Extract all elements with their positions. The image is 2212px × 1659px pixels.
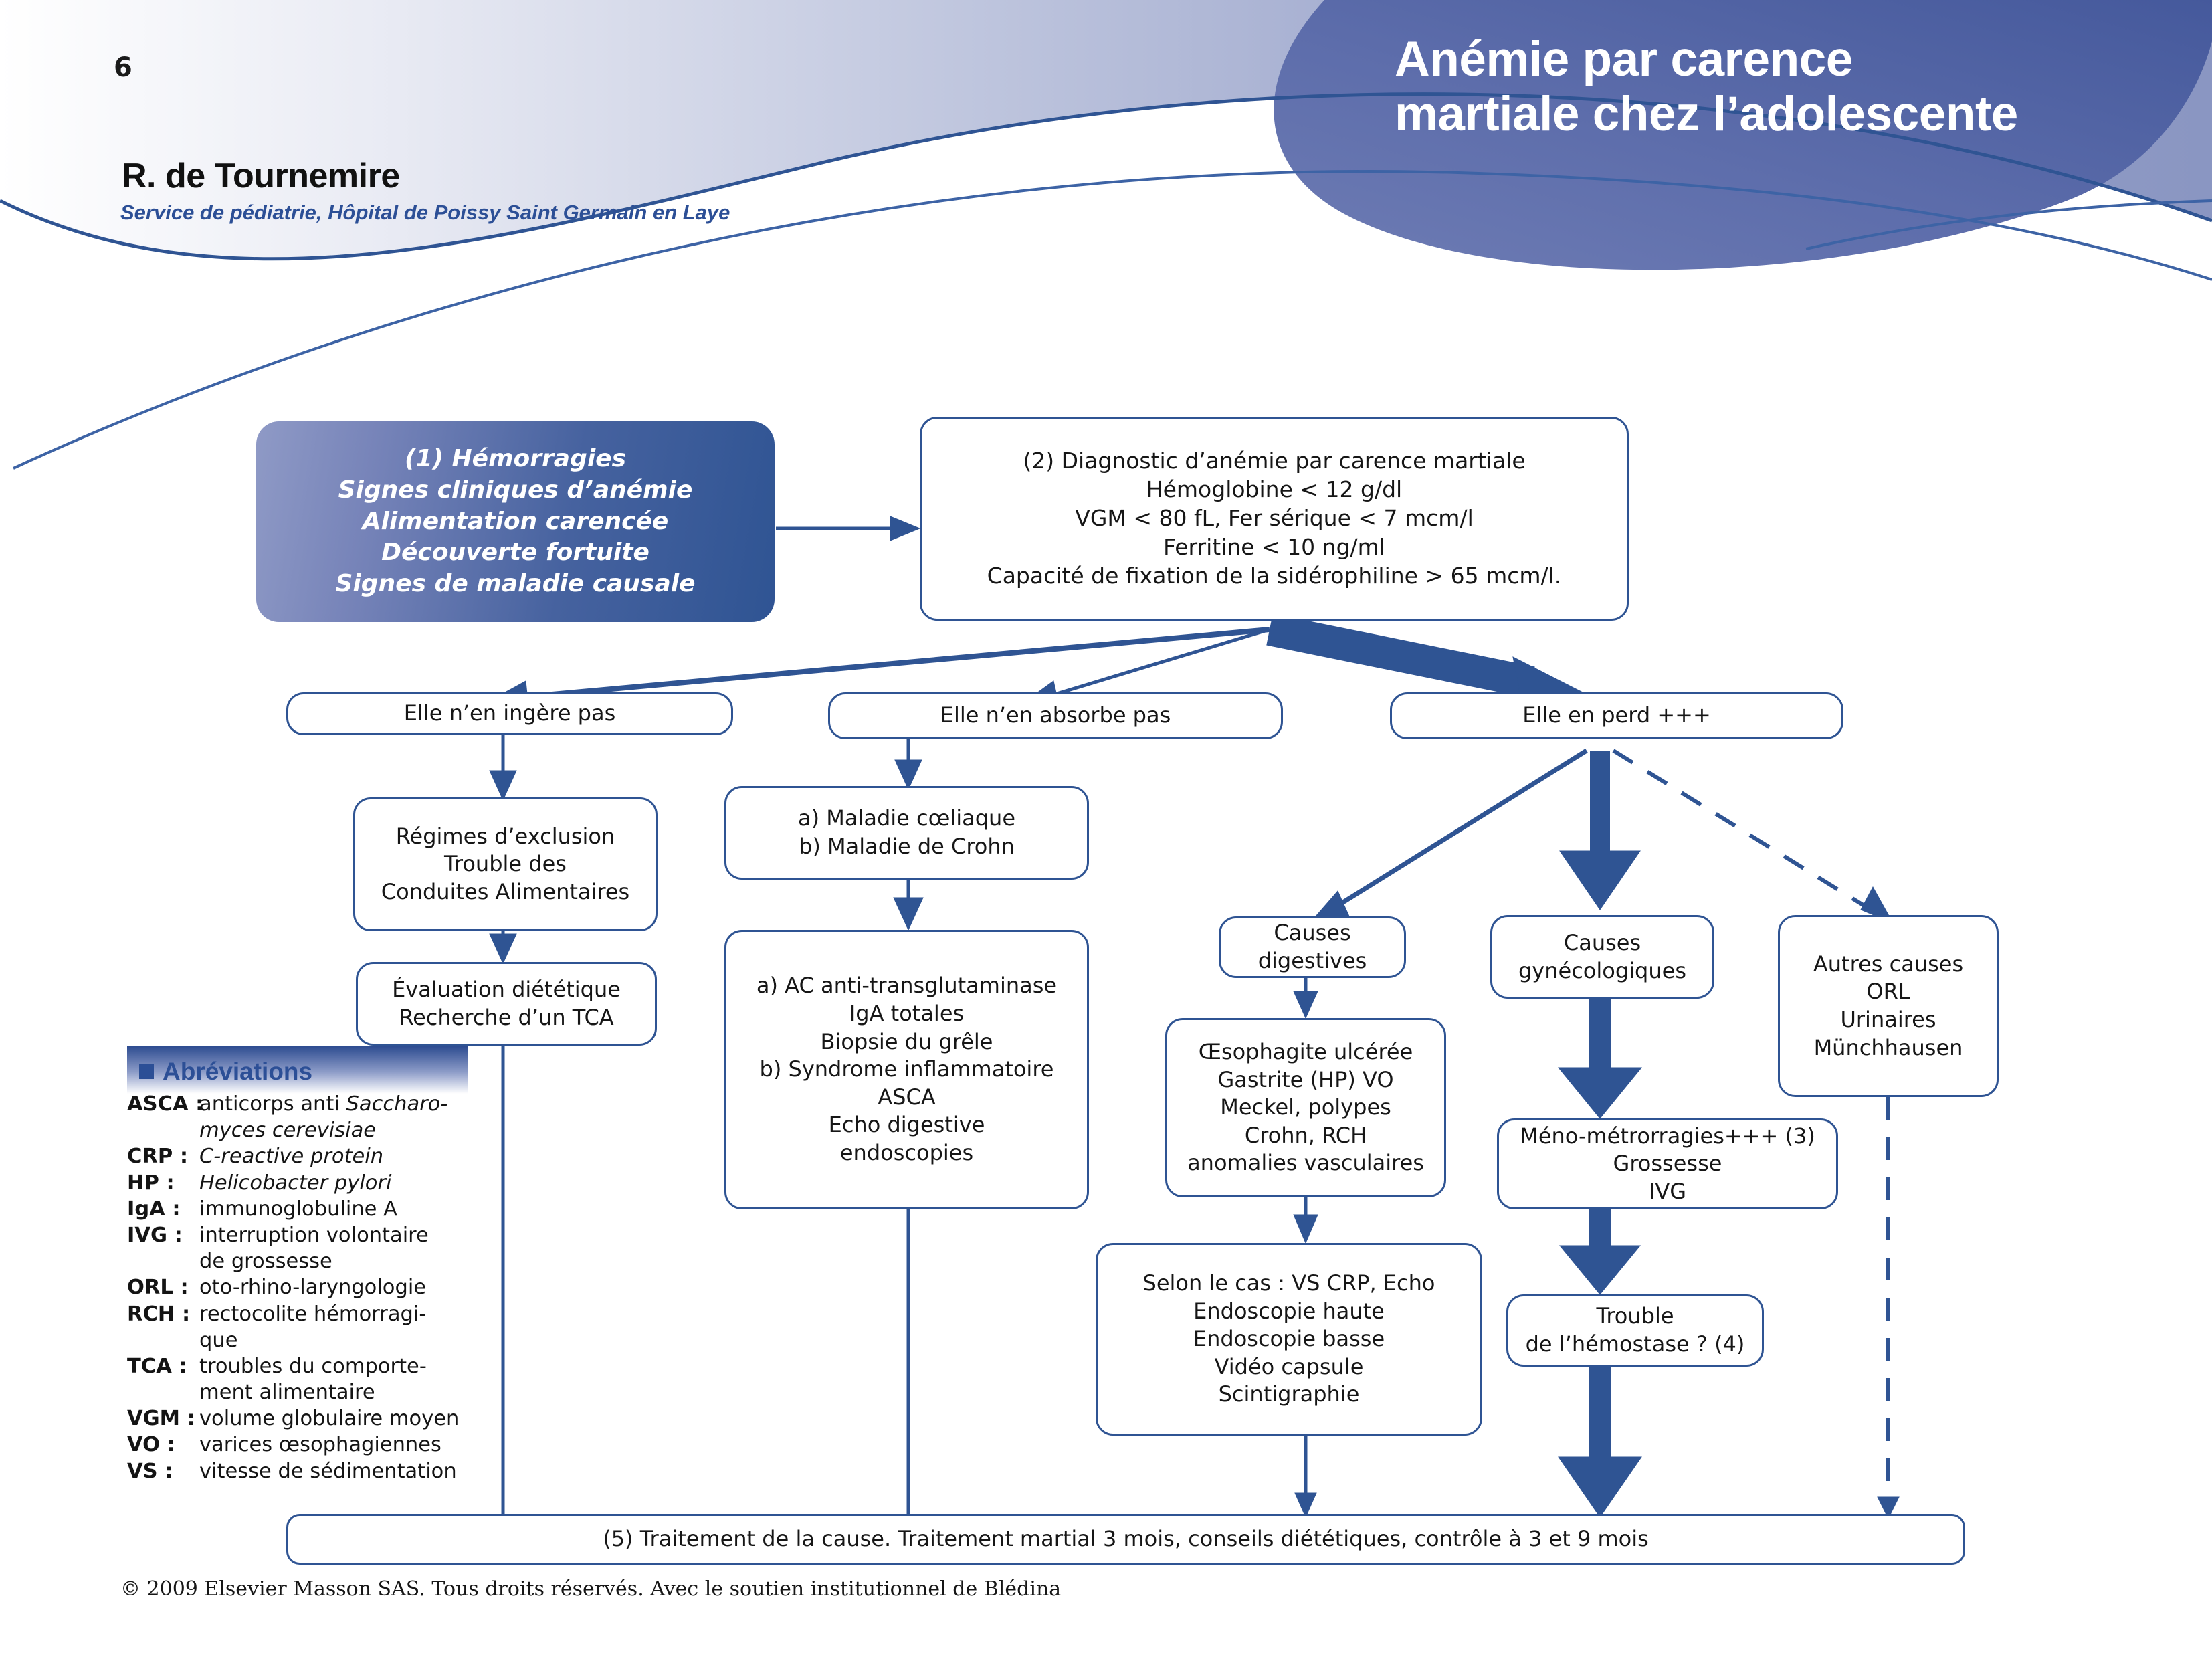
abbreviation-value: interruption volontaire [199,1222,468,1248]
slide-canvas: 6 Anémie par carence martiale chez l’ado… [0,0,2212,1659]
node-text-line: Gastrite (HP) VO [1175,1066,1436,1094]
node-text-line: Découverte fortuite [264,537,767,569]
node-text-line: Selon le cas : VS CRP, Echo [1106,1270,1472,1298]
node-hero-lines: (1) HémorragiesSignes cliniques d’anémie… [264,444,767,600]
abbreviation-key: TCA : [127,1353,199,1379]
node-explorations-digestives[interactable]: Selon le cas : VS CRP, EchoEndoscopie ha… [1096,1243,1482,1436]
node-branch-ingere[interactable]: Elle n’en ingère pas [286,692,733,735]
node-etiologies-digestives[interactable]: Œsophagite ulcéréeGastrite (HP) VOMeckel… [1165,1018,1446,1197]
abbreviation-row: CRP :C-reactive protein [127,1143,468,1169]
node-examens-malabsorption[interactable]: a) AC anti-transglutaminaseIgA totalesBi… [724,930,1089,1209]
abbreviation-value: C-reactive protein [199,1143,468,1169]
copyright-notice: © 2009 Elsevier Masson SAS. Tous droits … [120,1577,1061,1601]
node-text-line: Causes [1500,929,1704,957]
node-autres-causes-lines: Autres causesORLUrinairesMünchhausen [1788,951,1989,1062]
node-text-line: anomalies vasculaires [1175,1149,1436,1177]
node-text-line: a) AC anti-transglutaminase [734,972,1079,1000]
node-text-line: Münchhausen [1788,1034,1989,1062]
abbreviations-list: ASCA :anticorps anti Saccharo-myces cere… [127,1091,468,1484]
abbreviation-key: IVG : [127,1222,199,1248]
abbreviation-value-continued: de grossesse [199,1248,468,1274]
abbreviation-key: HP : [127,1170,199,1196]
abbreviation-value: vitesse de sédimentation [199,1458,468,1484]
node-etiologies-digestives-lines: Œsophagite ulcéréeGastrite (HP) VOMeckel… [1175,1038,1436,1177]
node-text-line: Elle en perd +++ [1400,702,1833,730]
node-text-line: Crohn, RCH [1175,1122,1436,1150]
node-text-line: (2) Diagnostic d’anémie par carence mart… [930,447,1619,476]
square-bullet-icon [139,1064,154,1079]
node-text-line: Meckel, polypes [1175,1094,1436,1122]
abbreviation-row: ORL :oto-rhino-laryngologie [127,1274,468,1300]
node-text-line: Scintigraphie [1106,1381,1472,1409]
node-hero-presentation[interactable]: (1) HémorragiesSignes cliniques d’anémie… [256,421,775,622]
abbreviations-heading: Abréviations [127,1046,468,1086]
abbreviation-key: CRP : [127,1143,199,1169]
abbreviation-row: ASCA :anticorps anti Saccharo- [127,1091,468,1117]
abbreviation-value-continued: que [199,1327,468,1353]
node-text-line: Trouble des [363,850,647,878]
node-text-line: Capacité de fixation de la sidérophiline… [930,562,1619,591]
node-text-line: Elle n’en ingère pas [296,700,723,728]
node-text-line: Vidéo capsule [1106,1353,1472,1381]
node-text-line: digestives [1229,947,1396,975]
node-maladies-lines: a) Maladie cœliaqueb) Maladie de Crohn [734,805,1079,860]
node-causes-digestives-lines: Causesdigestives [1229,919,1396,975]
node-trouble-hemostase[interactable]: Troublede l’hémostase ? (4) [1506,1294,1764,1367]
node-traitement[interactable]: (5) Traitement de la cause. Traitement m… [286,1514,1965,1565]
node-text-line: Biopsie du grêle [734,1028,1079,1056]
node-causes-gyneco-lines: Causesgynécologiques [1500,929,1704,985]
node-text-line: Endoscopie basse [1106,1325,1472,1353]
node-text-line: Signes de maladie causale [264,569,767,600]
abbreviation-key: IgA : [127,1196,199,1222]
abbreviation-row: VS :vitesse de sédimentation [127,1458,468,1484]
node-text-line: Grossesse [1507,1150,1828,1178]
node-text-line: ORL [1788,978,1989,1006]
abbreviation-value: varices œsophagiennes [199,1432,468,1458]
abbreviation-key: VS : [127,1458,199,1484]
abbreviation-row: HP :Helicobacter pylori [127,1170,468,1196]
node-text-line: Ferritine < 10 ng/ml [930,533,1619,562]
node-text-line: Alimentation carencée [264,506,767,538]
node-text-line: de l’hémostase ? (4) [1516,1331,1754,1359]
node-causes-digestives[interactable]: Causesdigestives [1219,916,1406,978]
node-hemostase-lines: Troublede l’hémostase ? (4) [1516,1302,1754,1358]
node-text-line: IgA totales [734,1000,1079,1028]
node-regimes-lines: Régimes d’exclusionTrouble desConduites … [363,823,647,906]
abbreviation-row: IgA :immunoglobuline A [127,1196,468,1222]
node-autres-causes[interactable]: Autres causesORLUrinairesMünchhausen [1778,915,1999,1097]
node-text-line: endoscopies [734,1139,1079,1167]
node-evaluation-lines: Évaluation diététiqueRecherche d’un TCA [366,976,647,1032]
node-text-line: (5) Traitement de la cause. Traitement m… [296,1525,1955,1553]
abbreviation-value: volume globulaire moyen [199,1405,468,1432]
node-text-line: Elle n’en absorbe pas [838,702,1273,730]
node-text-line: Autres causes [1788,951,1989,979]
node-diagnostic-lines: (2) Diagnostic d’anémie par carence mart… [930,447,1619,590]
node-explorations-lines: Selon le cas : VS CRP, EchoEndoscopie ha… [1106,1270,1472,1409]
abbreviations-heading-label: Abréviations [163,1058,312,1086]
abbreviation-key: RCH : [127,1301,199,1327]
abbreviation-row: RCH :rectocolite hémorragi- [127,1301,468,1327]
abbreviation-key: VGM : [127,1405,199,1432]
abbreviation-value-continued: myces cerevisiae [199,1117,468,1143]
abbreviation-key: VO : [127,1432,199,1458]
node-text-line: Signes cliniques d’anémie [264,475,767,506]
node-text-line: Endoscopie haute [1106,1298,1472,1326]
node-text-line: Causes [1229,919,1396,947]
node-evaluation-dietetique[interactable]: Évaluation diététiqueRecherche d’un TCA [356,962,657,1046]
abbreviation-row: VGM :volume globulaire moyen [127,1405,468,1432]
abbreviation-row: VO :varices œsophagiennes [127,1432,468,1458]
node-text-line: Œsophagite ulcérée [1175,1038,1436,1066]
node-text-line: Recherche d’un TCA [366,1004,647,1032]
node-text-line: Conduites Alimentaires [363,878,647,906]
node-maladies[interactable]: a) Maladie cœliaqueb) Maladie de Crohn [724,786,1089,880]
node-text-line: (1) Hémorragies [264,444,767,475]
node-branch-ingere-lines: Elle n’en ingère pas [296,700,723,728]
node-text-line: Echo digestive [734,1111,1079,1139]
node-branch-absorbe[interactable]: Elle n’en absorbe pas [828,692,1283,739]
node-etiologies-gyneco-lines: Méno-métrorragies+++ (3)GrossesseIVG [1507,1123,1828,1206]
abbreviation-value: troubles du comporte- [199,1353,468,1379]
node-regimes-exclusion[interactable]: Régimes d’exclusionTrouble desConduites … [353,797,658,931]
abbreviation-row: IVG :interruption volontaire [127,1222,468,1248]
abbreviation-key: ASCA : [127,1091,199,1117]
node-text-line: IVG [1507,1178,1828,1206]
abbreviation-value: oto-rhino-laryngologie [199,1274,468,1300]
node-branch-perd-lines: Elle en perd +++ [1400,702,1833,730]
node-text-line: Hémoglobine < 12 g/dl [930,476,1619,504]
node-text-line: Évaluation diététique [366,976,647,1004]
abbreviation-value: Helicobacter pylori [199,1170,468,1196]
node-text-line: Régimes d’exclusion [363,823,647,851]
abbreviation-key: ORL : [127,1274,199,1300]
abbreviation-value: rectocolite hémorragi- [199,1301,468,1327]
node-causes-gynecologiques[interactable]: Causesgynécologiques [1490,915,1714,999]
abbreviation-value: immunoglobuline A [199,1196,468,1222]
node-examens-lines: a) AC anti-transglutaminaseIgA totalesBi… [734,972,1079,1167]
node-text-line: b) Syndrome inflammatoire [734,1056,1079,1084]
node-traitement-lines: (5) Traitement de la cause. Traitement m… [296,1525,1955,1553]
node-branch-absorbe-lines: Elle n’en absorbe pas [838,702,1273,730]
node-diagnostic[interactable]: (2) Diagnostic d’anémie par carence mart… [920,417,1629,621]
abbreviation-value: anticorps anti Saccharo- [199,1091,468,1117]
node-etiologies-gynecologiques[interactable]: Méno-métrorragies+++ (3)GrossesseIVG [1497,1118,1838,1209]
node-text-line: ASCA [734,1084,1079,1112]
node-text-line: Urinaires [1788,1006,1989,1034]
node-text-line: a) Maladie cœliaque [734,805,1079,833]
abbreviation-value-continued: ment alimentaire [199,1379,468,1405]
node-text-line: VGM < 80 fL, Fer sérique < 7 mcm/l [930,504,1619,533]
node-text-line: b) Maladie de Crohn [734,833,1079,861]
node-text-line: gynécologiques [1500,957,1704,985]
node-text-line: Trouble [1516,1302,1754,1331]
node-branch-perd[interactable]: Elle en perd +++ [1390,692,1843,739]
abbreviation-row: TCA :troubles du comporte- [127,1353,468,1379]
node-text-line: Méno-métrorragies+++ (3) [1507,1123,1828,1151]
abbreviations-panel: Abréviations ASCA :anticorps anti Saccha… [127,1046,468,1484]
